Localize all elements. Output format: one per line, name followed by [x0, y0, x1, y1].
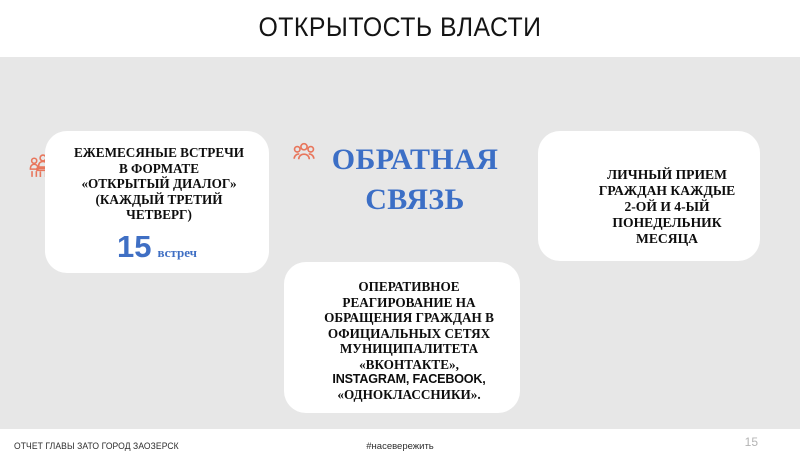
section-headline: ОБРАТНАЯ СВЯЗЬ	[300, 140, 530, 220]
text-line: 2-ОЙ И 4-ЫЙ	[584, 199, 750, 215]
headline-line-1: ОБРАТНАЯ	[300, 140, 530, 180]
footer-hashtag: #насевережить	[0, 441, 800, 452]
text-line: ПОНЕДЕЛЬНИК МЕСЯЦА	[584, 215, 750, 247]
card-social-networks: ОПЕРАТИВНОЕ РЕАГИРОВАНИЕ НА ОБРАЩЕНИЯ ГР…	[284, 262, 520, 413]
text-line: (КАЖДЫЙ ТРЕТИЙ	[71, 192, 247, 208]
text-line: ЕЖЕМЕСЯНЫЕ ВСТРЕЧИ	[71, 145, 247, 161]
card-monthly-meetings-text: ЕЖЕМЕСЯНЫЕ ВСТРЕЧИ В ФОРМАТЕ «ОТКРЫТЫЙ Д…	[45, 145, 269, 223]
page-title: ОТКРЫТОСТЬ ВЛАСТИ	[32, 12, 768, 43]
title-band: ОТКРЫТОСТЬ ВЛАСТИ	[0, 0, 800, 57]
text-line: ЧЕТВЕРГ)	[71, 207, 247, 223]
footer: ОТЧЕТ ГЛАВЫ ЗАТО ГОРОД ЗАОЗЕРСК #насевер…	[0, 429, 800, 470]
text-line: ОФИЦИАЛЬНЫХ СЕТЯХ	[310, 326, 508, 342]
card-personal-reception: ЛИЧНЫЙ ПРИЕМ ГРАЖДАН КАЖДЫЕ 2-ОЙ И 4-ЫЙ …	[538, 131, 760, 261]
text-line: «ОДНОКЛАССНИКИ».	[310, 387, 508, 403]
text-line: ГРАЖДАН КАЖДЫЕ	[584, 183, 750, 199]
card-monthly-meetings: ЕЖЕМЕСЯНЫЕ ВСТРЕЧИ В ФОРМАТЕ «ОТКРЫТЫЙ Д…	[45, 131, 269, 273]
slide-root: ОТКРЫТОСТЬ ВЛАСТИ ЕЖЕМЕСЯНЫЕ ВСТРЕЧИ В Ф…	[0, 0, 800, 470]
text-line: МУНИЦИПАЛИТЕТА	[310, 341, 508, 357]
card-social-networks-text: ОПЕРАТИВНОЕ РЕАГИРОВАНИЕ НА ОБРАЩЕНИЯ ГР…	[284, 279, 520, 403]
meetings-stat: 15встреч	[45, 229, 269, 265]
card-personal-reception-text: ЛИЧНЫЙ ПРИЕМ ГРАЖДАН КАЖДЫЕ 2-ОЙ И 4-ЫЙ …	[538, 167, 760, 247]
text-line: ЛИЧНЫЙ ПРИЕМ	[584, 167, 750, 183]
meetings-stat-unit: встреч	[157, 245, 197, 260]
text-line: ОБРАЩЕНИЯ ГРАЖДАН В	[310, 310, 508, 326]
meetings-stat-number: 15	[117, 229, 151, 264]
page-number: 15	[745, 435, 758, 449]
text-line: РЕАГИРОВАНИЕ НА	[310, 295, 508, 311]
text-line: «ВКОНТАКТЕ»,	[310, 357, 508, 373]
text-line: ОПЕРАТИВНОЕ	[310, 279, 508, 295]
headline-line-2: СВЯЗЬ	[300, 180, 530, 220]
text-line: В ФОРМАТЕ	[71, 161, 247, 177]
text-line-latin: INSTAGRAM, FACEBOOK,	[310, 372, 508, 387]
text-line: «ОТКРЫТЫЙ ДИАЛОГ»	[71, 176, 247, 192]
